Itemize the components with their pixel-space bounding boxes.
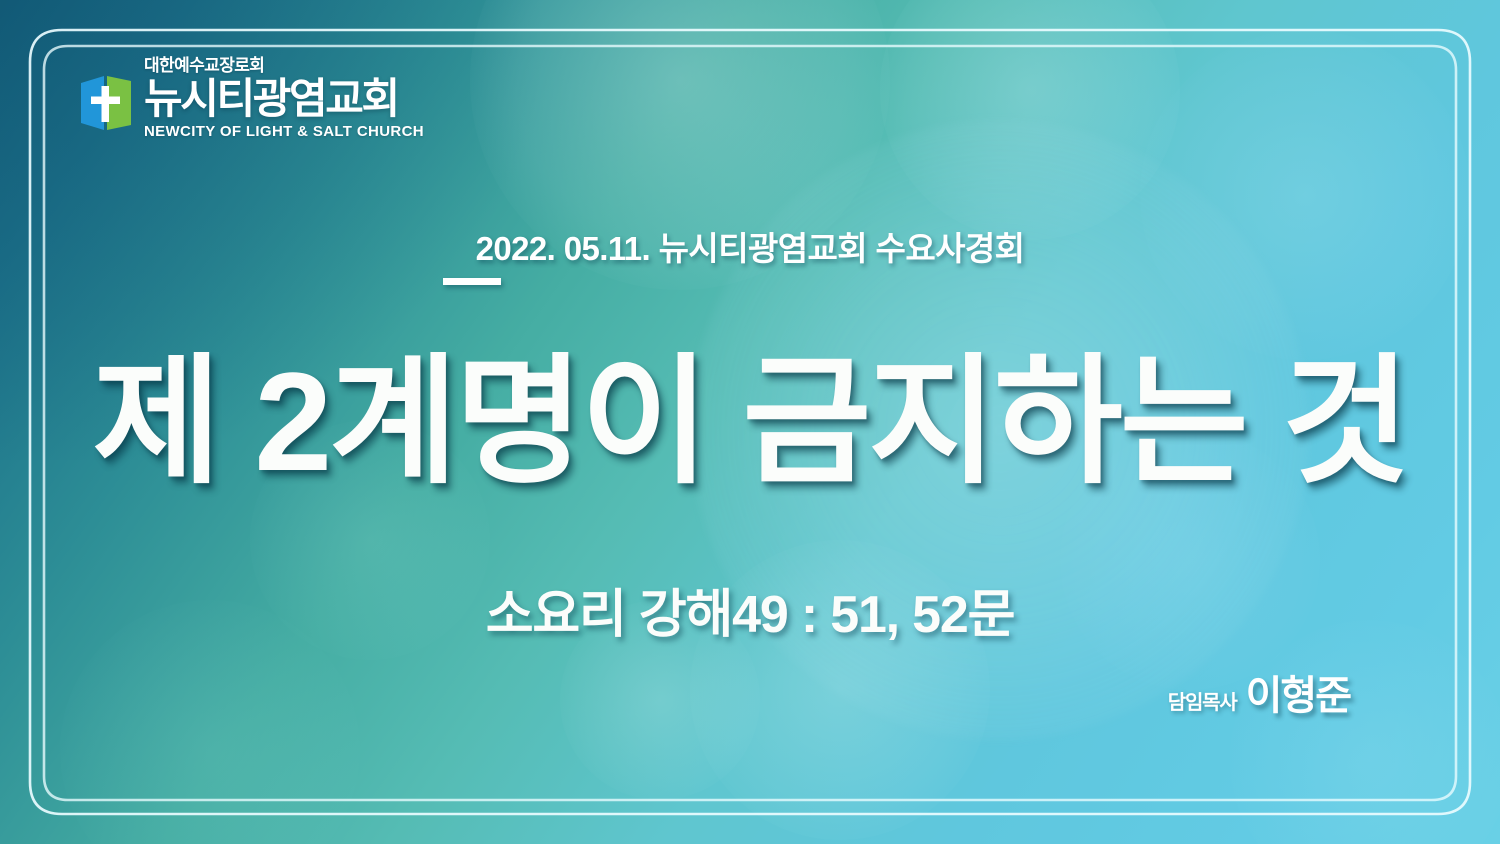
divider-rule [443, 278, 501, 285]
bokeh-circle [880, 0, 1180, 240]
speaker-credit: 담임목사 이형준 [1168, 663, 1350, 721]
speaker-role: 담임목사 [1168, 686, 1237, 715]
event-date-line: 2022. 05.11. 뉴시티광염교회 수요사경회 [0, 222, 1500, 270]
sermon-title: 제 2계명이 금지하는 것 [0, 352, 1500, 492]
logo-denomination: 대한예수교장로회 [144, 56, 424, 76]
speaker-name: 이형준 [1246, 663, 1350, 721]
slide-canvas: 대한예수교장로회 뉴시티광염교회 NEWCITY OF LIGHT & SALT… [0, 0, 1500, 844]
sermon-subtitle: 소요리 강해49 : 51, 52문 [0, 572, 1500, 647]
logo-church-name-ko: 뉴시티광염교회 [144, 77, 424, 121]
bokeh-circle [1140, 30, 1470, 360]
open-book-cross-icon [78, 72, 134, 134]
church-logo: 대한예수교장로회 뉴시티광염교회 NEWCITY OF LIGHT & SALT… [78, 56, 424, 141]
logo-church-name-en: NEWCITY OF LIGHT & SALT CHURCH [144, 123, 424, 141]
bokeh-circle [1230, 620, 1500, 844]
